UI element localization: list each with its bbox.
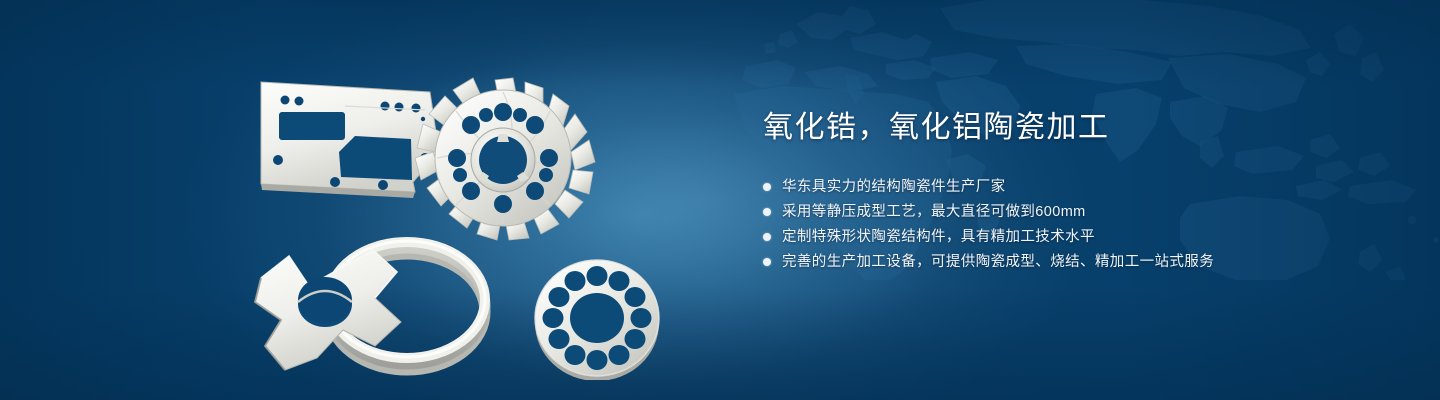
feature-list-item: 定制特殊形状陶瓷结构件，具有精加工技术水平 (763, 225, 1383, 249)
ceramic-products-image (225, 40, 715, 380)
ceramic-impeller-part (415, 78, 595, 240)
feature-text: 采用等静压成型工艺，最大直径可做到600mm (782, 200, 1086, 224)
ceramic-plate-part (261, 82, 439, 198)
ceramic-perforated-ring-part (535, 260, 659, 380)
feature-list-item: 采用等静压成型工艺，最大直径可做到600mm (763, 200, 1383, 224)
banner-headline: 氧化锆，氧化铝陶瓷加工 (763, 108, 1383, 148)
feature-list-item: 完善的生产加工设备，可提供陶瓷成型、烧结、精加工一站式服务 (763, 250, 1383, 274)
feature-list: 华东具实力的结构陶瓷件生产厂家 采用等静压成型工艺，最大直径可做到600mm 定… (763, 175, 1383, 274)
feature-list-item: 华东具实力的结构陶瓷件生产厂家 (763, 175, 1383, 199)
feature-text: 完善的生产加工设备，可提供陶瓷成型、烧结、精加工一站式服务 (782, 250, 1214, 274)
feature-text: 华东具实力的结构陶瓷件生产厂家 (782, 175, 1006, 199)
bullet-dot-icon (763, 183, 771, 191)
feature-text: 定制特殊形状陶瓷结构件，具有精加工技术水平 (782, 225, 1095, 249)
banner-text-block: 氧化锆，氧化铝陶瓷加工 华东具实力的结构陶瓷件生产厂家 采用等静压成型工艺，最大… (763, 108, 1383, 275)
bullet-dot-icon (763, 208, 771, 216)
hero-banner: 氧化锆，氧化铝陶瓷加工 华东具实力的结构陶瓷件生产厂家 采用等静压成型工艺，最大… (0, 0, 1440, 400)
bullet-dot-icon (763, 233, 771, 241)
bullet-dot-icon (763, 258, 771, 266)
